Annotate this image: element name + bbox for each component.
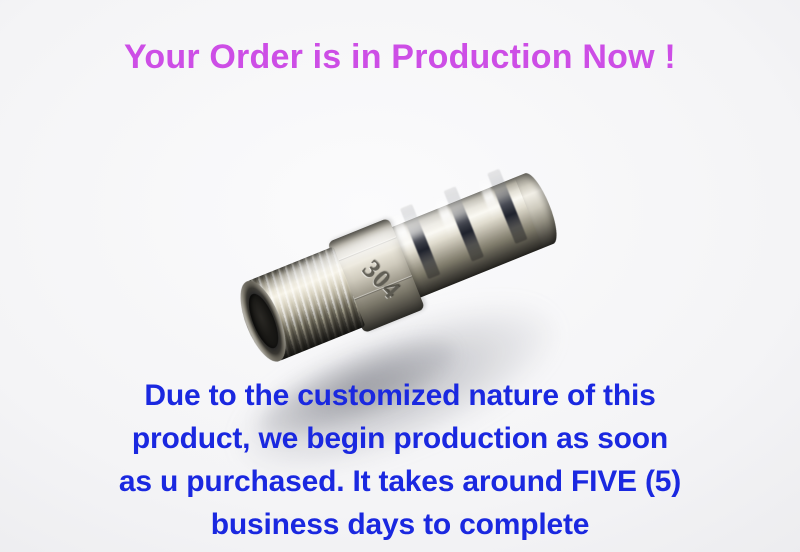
body-line: Due to the customized nature of this <box>0 374 800 417</box>
body-line: product, we begin production as soon <box>0 417 800 460</box>
promo-banner: Your Order is in Production Now ! 304 <box>0 0 800 552</box>
body-line: as u purchased. It takes around FIVE (5) <box>0 460 800 503</box>
body-line: business days to complete <box>0 503 800 546</box>
headline-text: Your Order is in Production Now ! <box>0 38 800 77</box>
product-photo: 304 <box>0 100 800 385</box>
body-copy: Due to the customized nature of this pro… <box>0 374 800 546</box>
